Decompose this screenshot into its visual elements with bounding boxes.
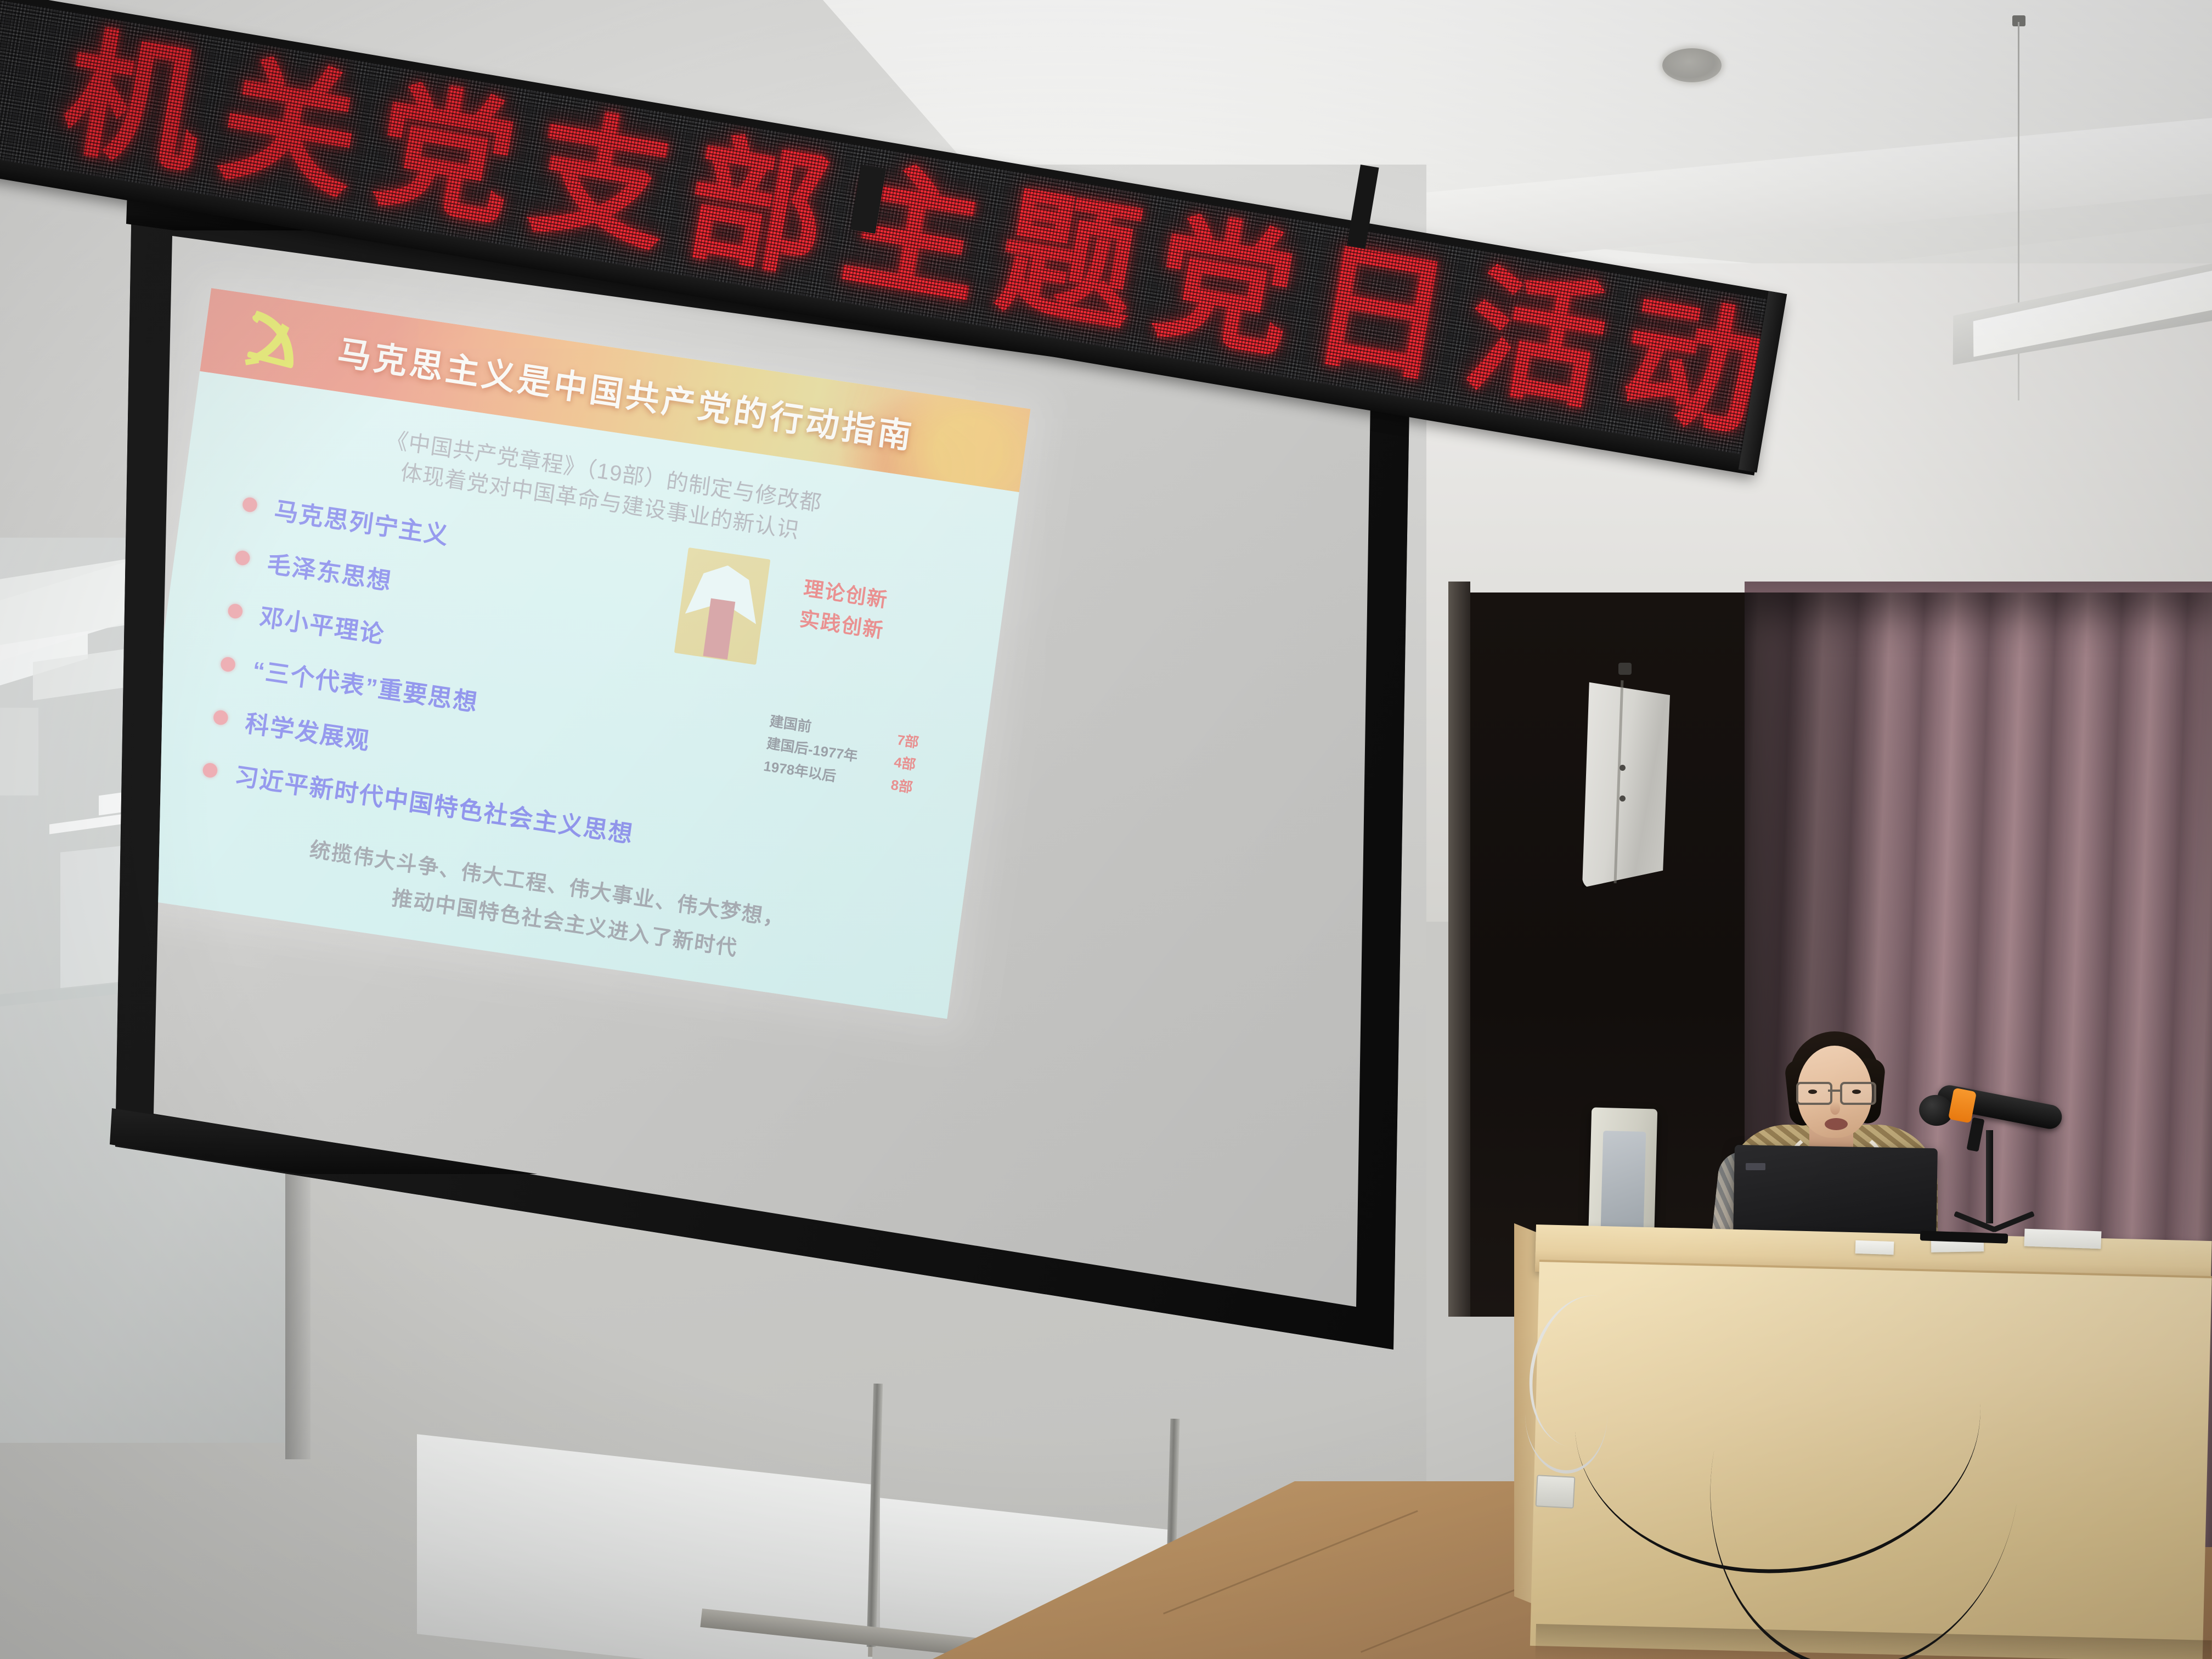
speaker-screw-icon	[1620, 795, 1626, 802]
alcove-trim	[1448, 582, 1470, 1317]
power-outlet	[1536, 1475, 1576, 1509]
paper-sheet	[2024, 1229, 2101, 1249]
photo-scene: 马克思主义是中国共产党的行动指南 《中国共产党章程》（19部）的制定与修改都 体…	[0, 0, 2212, 1659]
slide-bullet-list: 马克思列宁主义 毛泽东思想 邓小平理论	[142, 477, 673, 868]
paper-sheet	[1855, 1240, 1894, 1255]
glass-reflection	[0, 708, 38, 795]
bullet-dot-icon	[242, 496, 258, 513]
slide-right-column: 理论创新 实践创新 建国前 7部 建国后-1977年 4部	[629, 549, 1005, 917]
party-constitution-thumbnail	[674, 547, 771, 664]
bullet-text: 马克思列宁主义	[273, 491, 452, 551]
bullet-text: 毛泽东思想	[265, 544, 394, 597]
constitution-stats-table: 建国前 7部 建国后-1977年 4部 1978年以后 8部	[762, 710, 920, 799]
bullet-dot-icon	[234, 550, 251, 566]
ceiling-downlight	[1662, 48, 1722, 82]
presentation-slide: 马克思主义是中国共产党的行动指南 《中国共产党章程》（19部）的制定与修改都 体…	[128, 288, 1031, 1019]
innovation-labels: 理论创新 实践创新	[798, 572, 890, 646]
microphone-pole	[1986, 1130, 1993, 1223]
hammer-and-sickle-emblem	[232, 298, 319, 381]
crt-monitor-screen	[1601, 1131, 1646, 1231]
bullet-dot-icon	[212, 709, 229, 726]
stat-value: 8部	[889, 774, 914, 799]
speaker-mount-icon	[1618, 663, 1632, 675]
presenter-mouth	[1825, 1118, 1848, 1130]
stat-value: 4部	[893, 751, 917, 777]
stat-value: 7部	[895, 729, 920, 754]
bullet-text: 邓小平理论	[258, 597, 387, 650]
presenter-eye	[1852, 1090, 1861, 1094]
presenter-nose	[1830, 1102, 1840, 1115]
bullet-text: 科学发展观	[243, 704, 373, 757]
white-cable	[1525, 1355, 1607, 1474]
bullet-dot-icon	[220, 656, 236, 673]
wall-speaker	[1582, 674, 1670, 888]
bullet-dot-icon	[227, 603, 244, 619]
bullet-dot-icon	[202, 762, 218, 778]
bullet-text: “三个代表”重要思想	[251, 651, 481, 718]
presenter-eye	[1808, 1090, 1817, 1094]
laptop-logo	[1746, 1163, 1765, 1170]
speaker-screw-icon	[1620, 765, 1626, 771]
